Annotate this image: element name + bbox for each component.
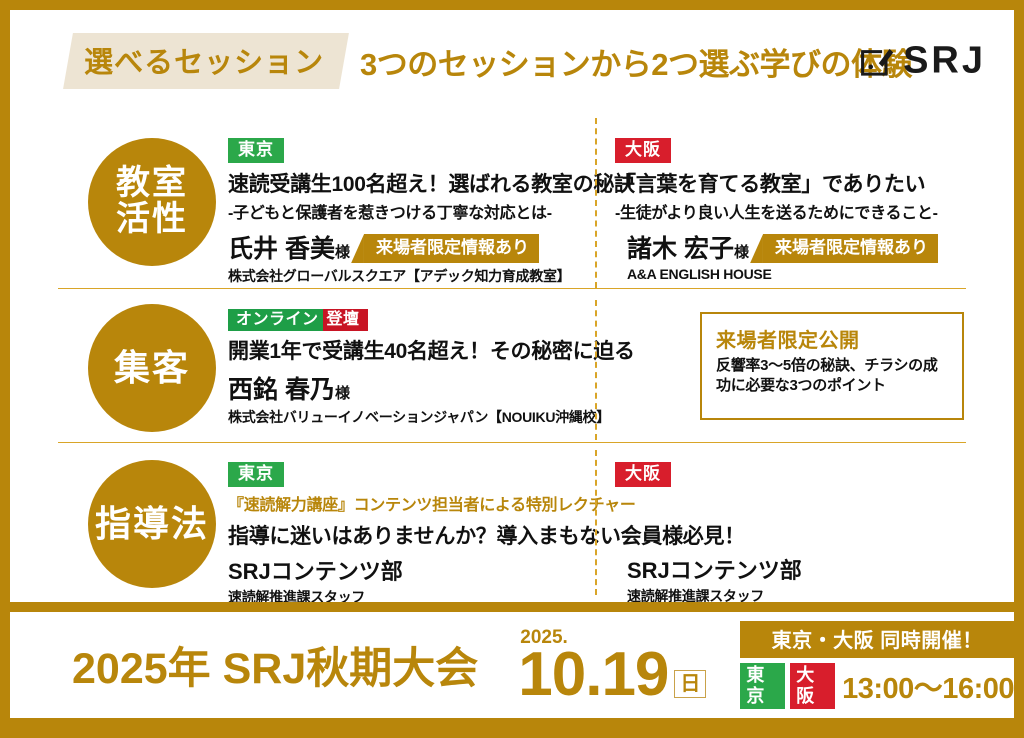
category-label-line1: 集客 bbox=[114, 349, 190, 387]
session-1-right-title: 「言葉を育てる教室」でありたい bbox=[615, 168, 938, 198]
online-badge-red: 登壇 bbox=[323, 309, 368, 331]
session-1-left-affiliation: 株式会社グローバルスクエア【アデック知力育成教室】 bbox=[228, 266, 635, 286]
exclusive-info-box: 来場者限定公開 反響率3〜5倍の秘訣、チラシの成功に必要な3つのポイント bbox=[700, 312, 964, 420]
header-badge-label: 選べるセッション bbox=[84, 39, 324, 81]
session-1-right-affiliation: A&A ENGLISH HOUSE bbox=[627, 266, 938, 282]
page-title: 3つのセッションから2つ選ぶ学びの体験 bbox=[360, 39, 912, 84]
exclusive-box-title: 来場者限定公開 bbox=[716, 324, 948, 353]
header: 選べるセッション 3つのセッションから2つ選ぶ学びの体験 SRJ bbox=[10, 30, 1014, 92]
exclusive-box-body: 反響率3〜5倍の秘訣、チラシの成功に必要な3つのポイント bbox=[716, 356, 948, 397]
main-panel: 選べるセッション 3つのセッションから2つ選ぶ学びの体験 SRJ bbox=[10, 10, 1014, 602]
square-pen-icon bbox=[859, 43, 895, 79]
category-label-line1: 教室 bbox=[116, 166, 188, 202]
category-circle-classroom: 教室 活性 bbox=[88, 138, 216, 266]
simultaneous-banner: 東京・大阪 同時開催！ bbox=[740, 621, 1014, 658]
vertical-divider-1 bbox=[595, 118, 597, 288]
city-badge-osaka: 大阪 bbox=[615, 138, 671, 163]
session-1-right-ribbon: 来場者限定情報あり bbox=[763, 234, 938, 263]
session-1-left-title: 速読受講生100名超え！選ばれる教室の秘訣 bbox=[228, 168, 635, 198]
city-badge-tokyo: 東京 bbox=[228, 462, 284, 487]
horizontal-divider-2 bbox=[58, 442, 966, 443]
event-time: 13:00〜16:00 bbox=[842, 665, 1014, 707]
session-3-right-affiliation: 速読解推進課スタッフ bbox=[627, 586, 802, 602]
session-1-left-speaker: 氏井 香美様 bbox=[228, 229, 350, 265]
session-2-left-affiliation: 株式会社バリューイノベーションジャパン【NOUIKU沖縄校】 bbox=[228, 407, 635, 427]
event-date: 10.19 bbox=[518, 649, 668, 702]
session-1-left-ribbon: 来場者限定情報あり bbox=[364, 234, 539, 263]
category-label-line2: 活性 bbox=[116, 202, 188, 238]
speaker-honorific: 様 bbox=[335, 244, 350, 261]
poster-root: 選べるセッション 3つのセッションから2つ選ぶ学びの体験 SRJ bbox=[0, 0, 1024, 738]
category-circle-acquisition: 集客 bbox=[88, 304, 216, 432]
event-day-of-week: 日 bbox=[674, 670, 706, 698]
session-2-left-speaker: 西銘 春乃様 bbox=[228, 370, 635, 406]
footer-badge-osaka: 大阪 bbox=[790, 663, 835, 709]
session-1-left: 東京 速読受講生100名超え！選ばれる教室の秘訣 -子どもと保護者を惹きつける丁… bbox=[228, 138, 635, 286]
event-date-block: 2025. 10.19 日 bbox=[518, 628, 706, 702]
vertical-divider-3 bbox=[595, 450, 597, 595]
event-title: 2025年 SRJ秋期大会 bbox=[72, 634, 478, 696]
category-label-line1: 指導法 bbox=[95, 505, 209, 543]
speaker-honorific: 様 bbox=[734, 244, 749, 261]
srj-logo-text: SRJ bbox=[903, 40, 986, 83]
speaker-name: 西銘 春乃 bbox=[228, 376, 335, 404]
speaker-name: 氏井 香美 bbox=[228, 235, 335, 263]
session-1-left-subtitle: -子どもと保護者を惹きつける丁寧な対応とは- bbox=[228, 199, 635, 223]
footer: 2025年 SRJ秋期大会 2025. 10.19 日 東京・大阪 同時開催！ … bbox=[10, 612, 1014, 718]
vertical-divider-2 bbox=[595, 300, 597, 440]
city-badge-osaka: 大阪 bbox=[615, 462, 671, 487]
speaker-name: 諸木 宏子 bbox=[627, 235, 734, 263]
footer-badge-tokyo: 東京 bbox=[740, 663, 785, 709]
event-venue-time-block: 東京・大阪 同時開催！ 東京 大阪 13:00〜16:00 bbox=[740, 621, 1014, 709]
header-badge: 選べるセッション bbox=[63, 33, 349, 89]
session-2-left: オンライン登壇 開業1年で受講生40名超え！その秘密に迫る 西銘 春乃様 株式会… bbox=[228, 310, 635, 427]
session-3-right: 大阪 SRJコンテンツ部 速読解推進課スタッフ bbox=[615, 462, 802, 602]
session-3-right-speaker: SRJコンテンツ部 bbox=[627, 553, 802, 585]
session-1-right-speaker: 諸木 宏子様 bbox=[627, 229, 749, 265]
session-1-right: 大阪 「言葉を育てる教室」でありたい -生徒がより良い人生を送るためにできること… bbox=[615, 138, 938, 282]
category-circle-teaching: 指導法 bbox=[88, 460, 216, 588]
session-2-left-title: 開業1年で受講生40名超え！その秘密に迫る bbox=[228, 335, 635, 365]
speaker-honorific: 様 bbox=[335, 385, 350, 402]
online-speaker-badge: オンライン登壇 bbox=[228, 310, 368, 330]
session-1-right-subtitle: -生徒がより良い人生を送るためにできること- bbox=[615, 199, 938, 223]
online-badge-green: オンライン bbox=[228, 309, 323, 331]
horizontal-divider-1 bbox=[58, 288, 966, 289]
city-badge-tokyo: 東京 bbox=[228, 138, 284, 163]
srj-logo: SRJ bbox=[859, 40, 986, 83]
